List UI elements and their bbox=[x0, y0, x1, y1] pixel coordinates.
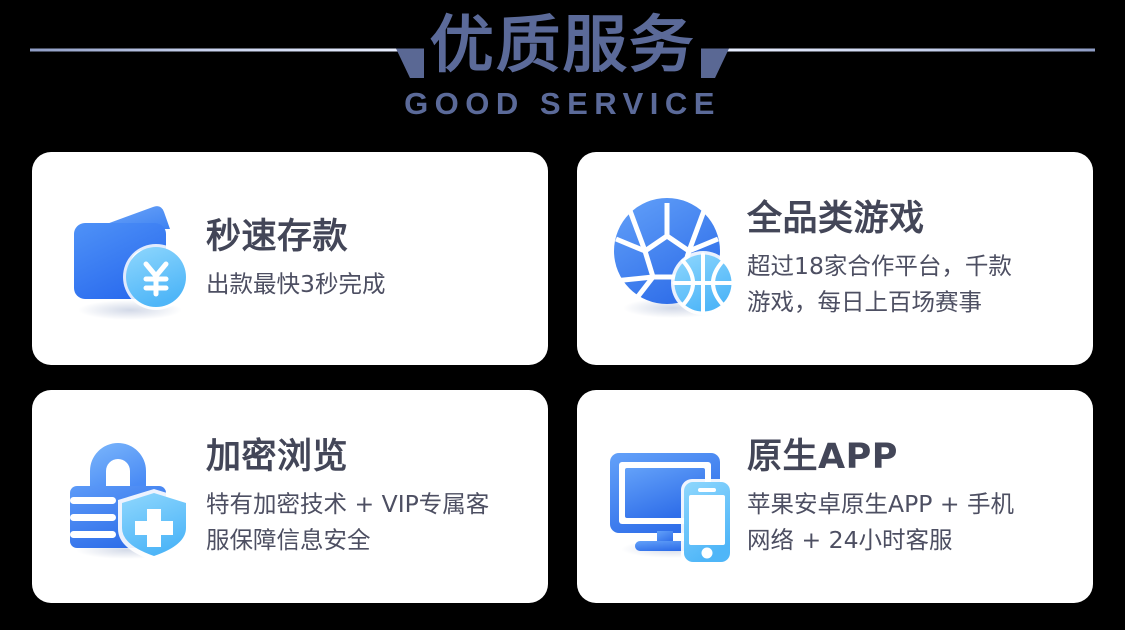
feature-card-text: 全品类游戏 超过18家合作平台，千款 游戏，每日上百场赛事 bbox=[745, 197, 1075, 320]
wallet-icon bbox=[60, 189, 200, 329]
card-title: 秒速存款 bbox=[206, 215, 530, 259]
feature-card-games[interactable]: 全品类游戏 超过18家合作平台，千款 游戏，每日上百场赛事 bbox=[577, 152, 1093, 365]
card-description: 苹果安卓原生APP + 手机 网络 + 24小时客服 bbox=[747, 486, 1075, 558]
devices-icon bbox=[605, 427, 745, 567]
lock-shield-icon bbox=[60, 427, 200, 567]
feature-card-text: 秒速存款 出款最快3秒完成 bbox=[200, 215, 530, 302]
page-subtitle: GOOD SERVICE bbox=[0, 86, 1125, 122]
card-description: 超过18家合作平台，千款 游戏，每日上百场赛事 bbox=[747, 248, 1075, 320]
feature-card-grid: 秒速存款 出款最快3秒完成 bbox=[32, 152, 1093, 603]
sports-ball-icon bbox=[605, 189, 745, 329]
header: 优质服务 GOOD SERVICE bbox=[0, 0, 1125, 148]
feature-card-text: 原生APP 苹果安卓原生APP + 手机 网络 + 24小时客服 bbox=[745, 435, 1075, 558]
page-title: 优质服务 bbox=[0, 6, 1125, 84]
card-title: 加密浏览 bbox=[206, 435, 530, 479]
feature-card-deposit[interactable]: 秒速存款 出款最快3秒完成 bbox=[32, 152, 548, 365]
card-title: 原生APP bbox=[747, 435, 1075, 479]
card-description: 出款最快3秒完成 bbox=[206, 266, 530, 302]
card-description: 特有加密技术 + VIP专属客 服保障信息安全 bbox=[206, 486, 530, 558]
header-title-block: 优质服务 GOOD SERVICE bbox=[0, 6, 1125, 122]
feature-card-text: 加密浏览 特有加密技术 + VIP专属客 服保障信息安全 bbox=[200, 435, 530, 558]
good-service-banner: 优质服务 GOOD SERVICE bbox=[0, 0, 1125, 630]
card-title: 全品类游戏 bbox=[747, 197, 1075, 241]
feature-card-encryption[interactable]: 加密浏览 特有加密技术 + VIP专属客 服保障信息安全 bbox=[32, 390, 548, 603]
feature-card-native-app[interactable]: 原生APP 苹果安卓原生APP + 手机 网络 + 24小时客服 bbox=[577, 390, 1093, 603]
